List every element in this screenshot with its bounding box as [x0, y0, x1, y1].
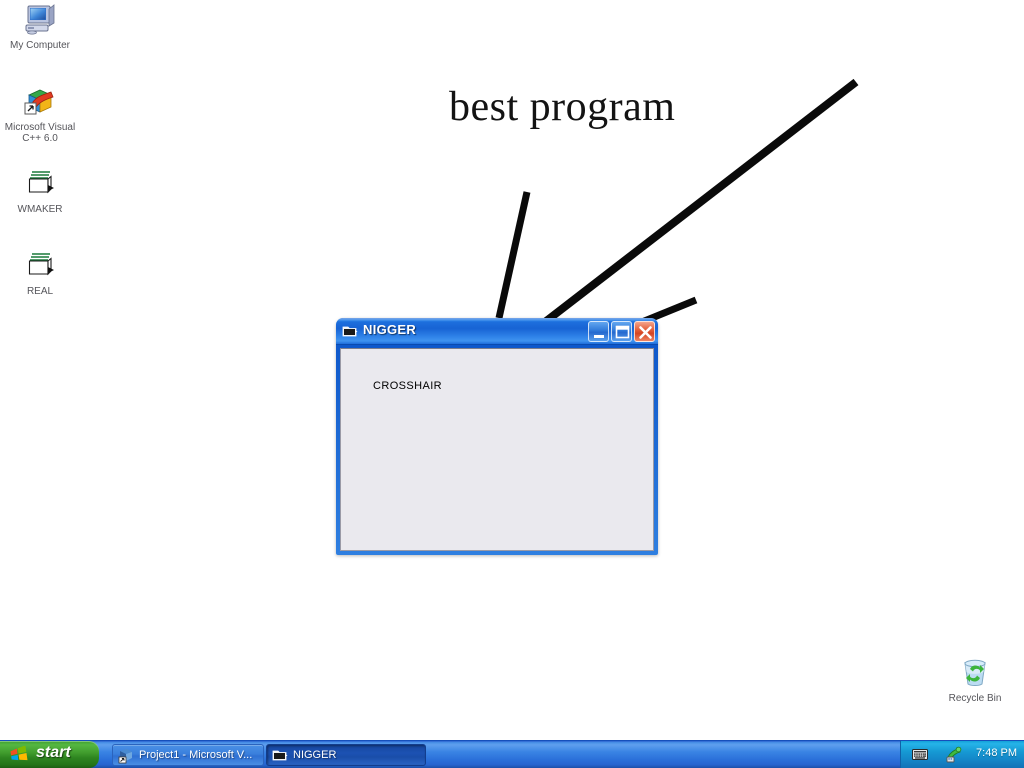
crosshair-label: CROSSHAIR	[373, 380, 442, 392]
my-computer-icon	[20, 2, 60, 38]
network-connection-icon[interactable]	[945, 746, 962, 763]
clock-time[interactable]: 7:48 PM	[976, 747, 1017, 759]
desktop-icon-label: Microsoft Visual C++ 6.0	[2, 122, 78, 144]
window-client-area[interactable]: CROSSHAIR	[340, 348, 654, 551]
start-button[interactable]: start	[0, 741, 99, 768]
desktop-icon-label: My Computer	[2, 40, 78, 51]
windows-flag-icon	[10, 746, 28, 763]
desktop-icon-real[interactable]: REAL	[2, 248, 78, 297]
arrow-line-vertical	[499, 192, 527, 318]
folder-icon	[20, 248, 60, 284]
window-titlebar[interactable]: NIGGER	[336, 318, 658, 345]
taskbar-button-label: Project1 - Microsoft V...	[139, 749, 252, 761]
start-label: start	[36, 744, 71, 762]
screen-root: My Computer Microsoft Visual C++ 6.0	[0, 0, 1024, 768]
taskbar-button-label: NIGGER	[293, 749, 336, 761]
recycle-bin-icon	[955, 655, 995, 691]
window-app-icon	[272, 748, 288, 764]
visual-cpp-icon	[20, 84, 60, 120]
desktop-icon-recycle-bin[interactable]: Recycle Bin	[937, 655, 1013, 704]
desktop-surface[interactable]: My Computer Microsoft Visual C++ 6.0	[0, 0, 1024, 740]
maximize-button[interactable]	[611, 321, 632, 342]
close-button[interactable]	[634, 321, 655, 342]
desktop-icon-label: REAL	[2, 286, 78, 297]
folder-icon	[20, 166, 60, 202]
taskbar[interactable]: start Project1 - Microsoft V...	[0, 740, 1024, 768]
desktop-icon-label: Recycle Bin	[937, 693, 1013, 704]
minimize-button[interactable]	[588, 321, 609, 342]
desktop-icon-my-computer[interactable]: My Computer	[2, 2, 78, 51]
visual-basic-icon	[118, 748, 134, 764]
keyboard-layout-icon[interactable]	[912, 747, 928, 762]
application-window[interactable]: NIGGER	[336, 318, 658, 555]
annotation-text-best-program: best program	[449, 84, 675, 130]
desktop-icon-visual-cpp[interactable]: Microsoft Visual C++ 6.0	[2, 84, 78, 144]
window-app-icon	[342, 324, 358, 339]
taskbar-button-project1[interactable]: Project1 - Microsoft V...	[112, 744, 264, 766]
taskbar-button-nigger[interactable]: NIGGER	[266, 744, 426, 766]
desktop-icon-label: WMAKER	[2, 204, 78, 215]
system-tray[interactable]: 7:48 PM	[900, 741, 1024, 768]
window-title: NIGGER	[363, 322, 416, 337]
desktop-icon-wmaker[interactable]: WMAKER	[2, 166, 78, 215]
